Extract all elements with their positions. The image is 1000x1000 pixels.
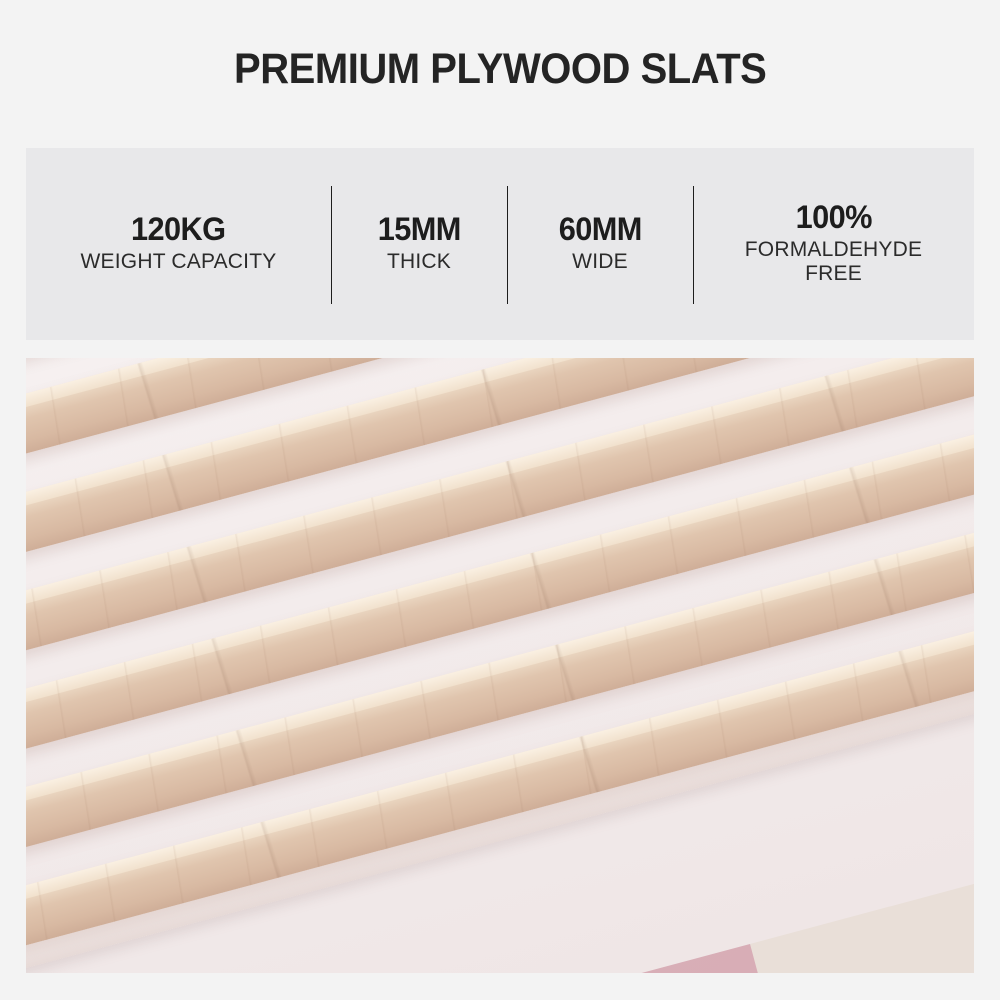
spec-value: 15MM — [377, 213, 460, 247]
spec-item-thickness: 15MM THICK — [331, 148, 507, 340]
product-photo-scene — [26, 358, 974, 973]
spec-label: WIDE — [572, 250, 628, 274]
page-title: PREMIUM PLYWOOD SLATS — [234, 48, 766, 91]
spec-item-formaldehyde-free: 100% FORMALDEHYDE FREE — [693, 148, 974, 340]
spec-value: 100% — [795, 201, 871, 235]
plywood-slats-group — [26, 358, 974, 973]
spec-value: 60MM — [558, 213, 641, 247]
spec-label: WEIGHT CAPACITY — [81, 250, 277, 274]
page-title-container: PREMIUM PLYWOOD SLATS — [0, 48, 1000, 91]
spec-label: THICK — [387, 250, 451, 274]
spec-label: FORMALDEHYDE FREE — [745, 238, 922, 286]
spec-item-weight-capacity: 120KG WEIGHT CAPACITY — [26, 148, 331, 340]
spec-bar: 120KG WEIGHT CAPACITY 15MM THICK 60MM WI… — [26, 148, 974, 340]
spec-item-width: 60MM WIDE — [507, 148, 693, 340]
spec-value: 120KG — [131, 213, 225, 247]
product-photo: AUSTRALIAN STANDARD MATTRESS COMPATIBLE — [26, 358, 974, 973]
